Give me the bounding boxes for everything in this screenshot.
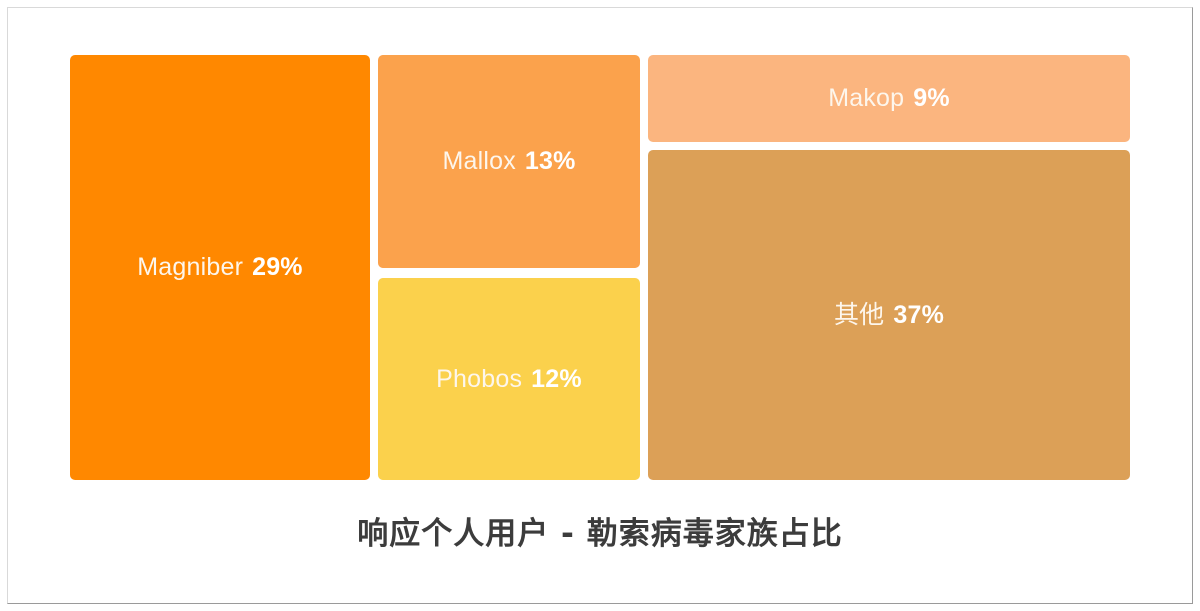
treemap-tile-other[interactable]: 其他37% [648,150,1130,480]
treemap-tile-phobos-label: Phobos12% [436,367,582,392]
treemap-tile-magniber[interactable]: Magniber29% [70,55,370,480]
treemap-tile-phobos-value: 12% [531,365,582,393]
treemap-tile-mallox-name: Mallox [442,147,515,175]
treemap-tile-other-label: 其他37% [834,303,944,328]
treemap-tile-magniber-value: 29% [252,253,303,281]
treemap-tile-other-value: 37% [893,301,944,329]
treemap-tile-makop-name: Makop [828,84,904,112]
slide-canvas: Magniber29% Mallox13% Phobos12% Makop9% … [0,0,1200,611]
chart-title: 响应个人用户 - 勒索病毒家族占比 [0,515,1200,554]
treemap-tile-makop[interactable]: Makop9% [648,55,1130,142]
treemap-tile-magniber-label: Magniber29% [137,255,302,280]
treemap-tile-mallox-label: Mallox13% [442,149,575,174]
treemap-tile-mallox-value: 13% [525,147,576,175]
treemap-tile-makop-label: Makop9% [828,86,950,111]
treemap-tile-phobos[interactable]: Phobos12% [378,278,640,480]
treemap-tile-mallox[interactable]: Mallox13% [378,55,640,268]
treemap-chart: Magniber29% Mallox13% Phobos12% Makop9% … [70,55,1130,480]
treemap-tile-magniber-name: Magniber [137,253,243,281]
treemap-tile-makop-value: 9% [913,84,950,112]
treemap-tile-other-name: 其他 [834,301,884,329]
treemap-tile-phobos-name: Phobos [436,365,522,393]
